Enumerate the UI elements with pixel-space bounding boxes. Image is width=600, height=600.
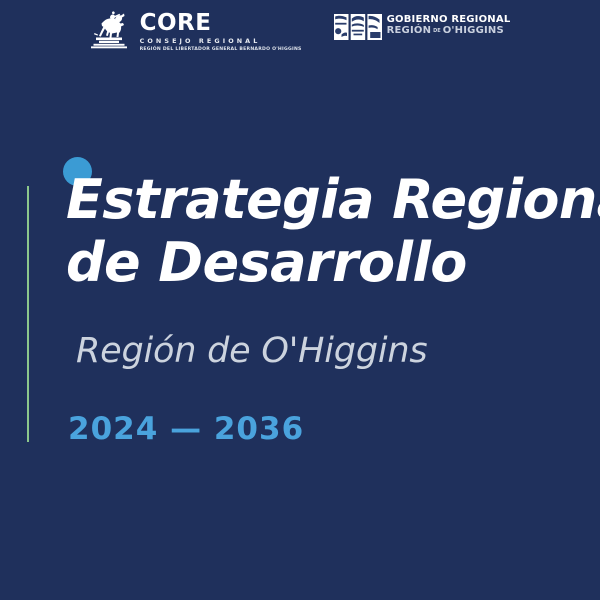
- core-logo: CORE CONSEJO REGIONAL REGIÓN DEL LIBERTA…: [90, 11, 302, 53]
- three-panel-landscape-icon: [334, 14, 382, 40]
- core-tagline: CONSEJO REGIONAL: [140, 38, 261, 44]
- cover-page: CORE CONSEJO REGIONAL REGIÓN DEL LIBERTA…: [0, 0, 600, 600]
- gobierno-regional-logo: GOBIERNO REGIONAL REGIÓN DE O'HIGGINS: [334, 11, 511, 40]
- cover-subtitle: Región de O'Higgins: [76, 330, 427, 372]
- gobierno-regional-line2-suffix: O'HIGGINS: [443, 26, 504, 37]
- cover-title: Estrategia Regional de Desarrollo: [66, 168, 586, 294]
- core-wordmark: CORE: [140, 12, 212, 35]
- gobierno-regional-wordmark-group: GOBIERNO REGIONAL REGIÓN DE O'HIGGINS: [387, 11, 511, 36]
- gobierno-regional-line1: GOBIERNO REGIONAL: [387, 15, 511, 26]
- gobierno-regional-line2-prefix: REGIÓN: [387, 26, 432, 37]
- core-subtagline: REGIÓN DEL LIBERTADOR GENERAL BERNARDO O…: [140, 48, 302, 53]
- cover-title-line-1: Estrategia Regional: [66, 168, 586, 231]
- gobierno-regional-line2-connector: DE: [433, 29, 441, 34]
- left-accent-rule: [27, 186, 29, 442]
- core-wordmark-group: CORE CONSEJO REGIONAL REGIÓN DEL LIBERTA…: [140, 11, 302, 53]
- cover-year-range: 2024 — 2036: [68, 410, 304, 448]
- header-logo-bar: CORE CONSEJO REGIONAL REGIÓN DEL LIBERTA…: [0, 11, 600, 55]
- cover-title-line-2: de Desarrollo: [66, 231, 586, 294]
- gobierno-regional-line2: REGIÓN DE O'HIGGINS: [387, 26, 504, 37]
- equestrian-statue-icon: [90, 11, 135, 49]
